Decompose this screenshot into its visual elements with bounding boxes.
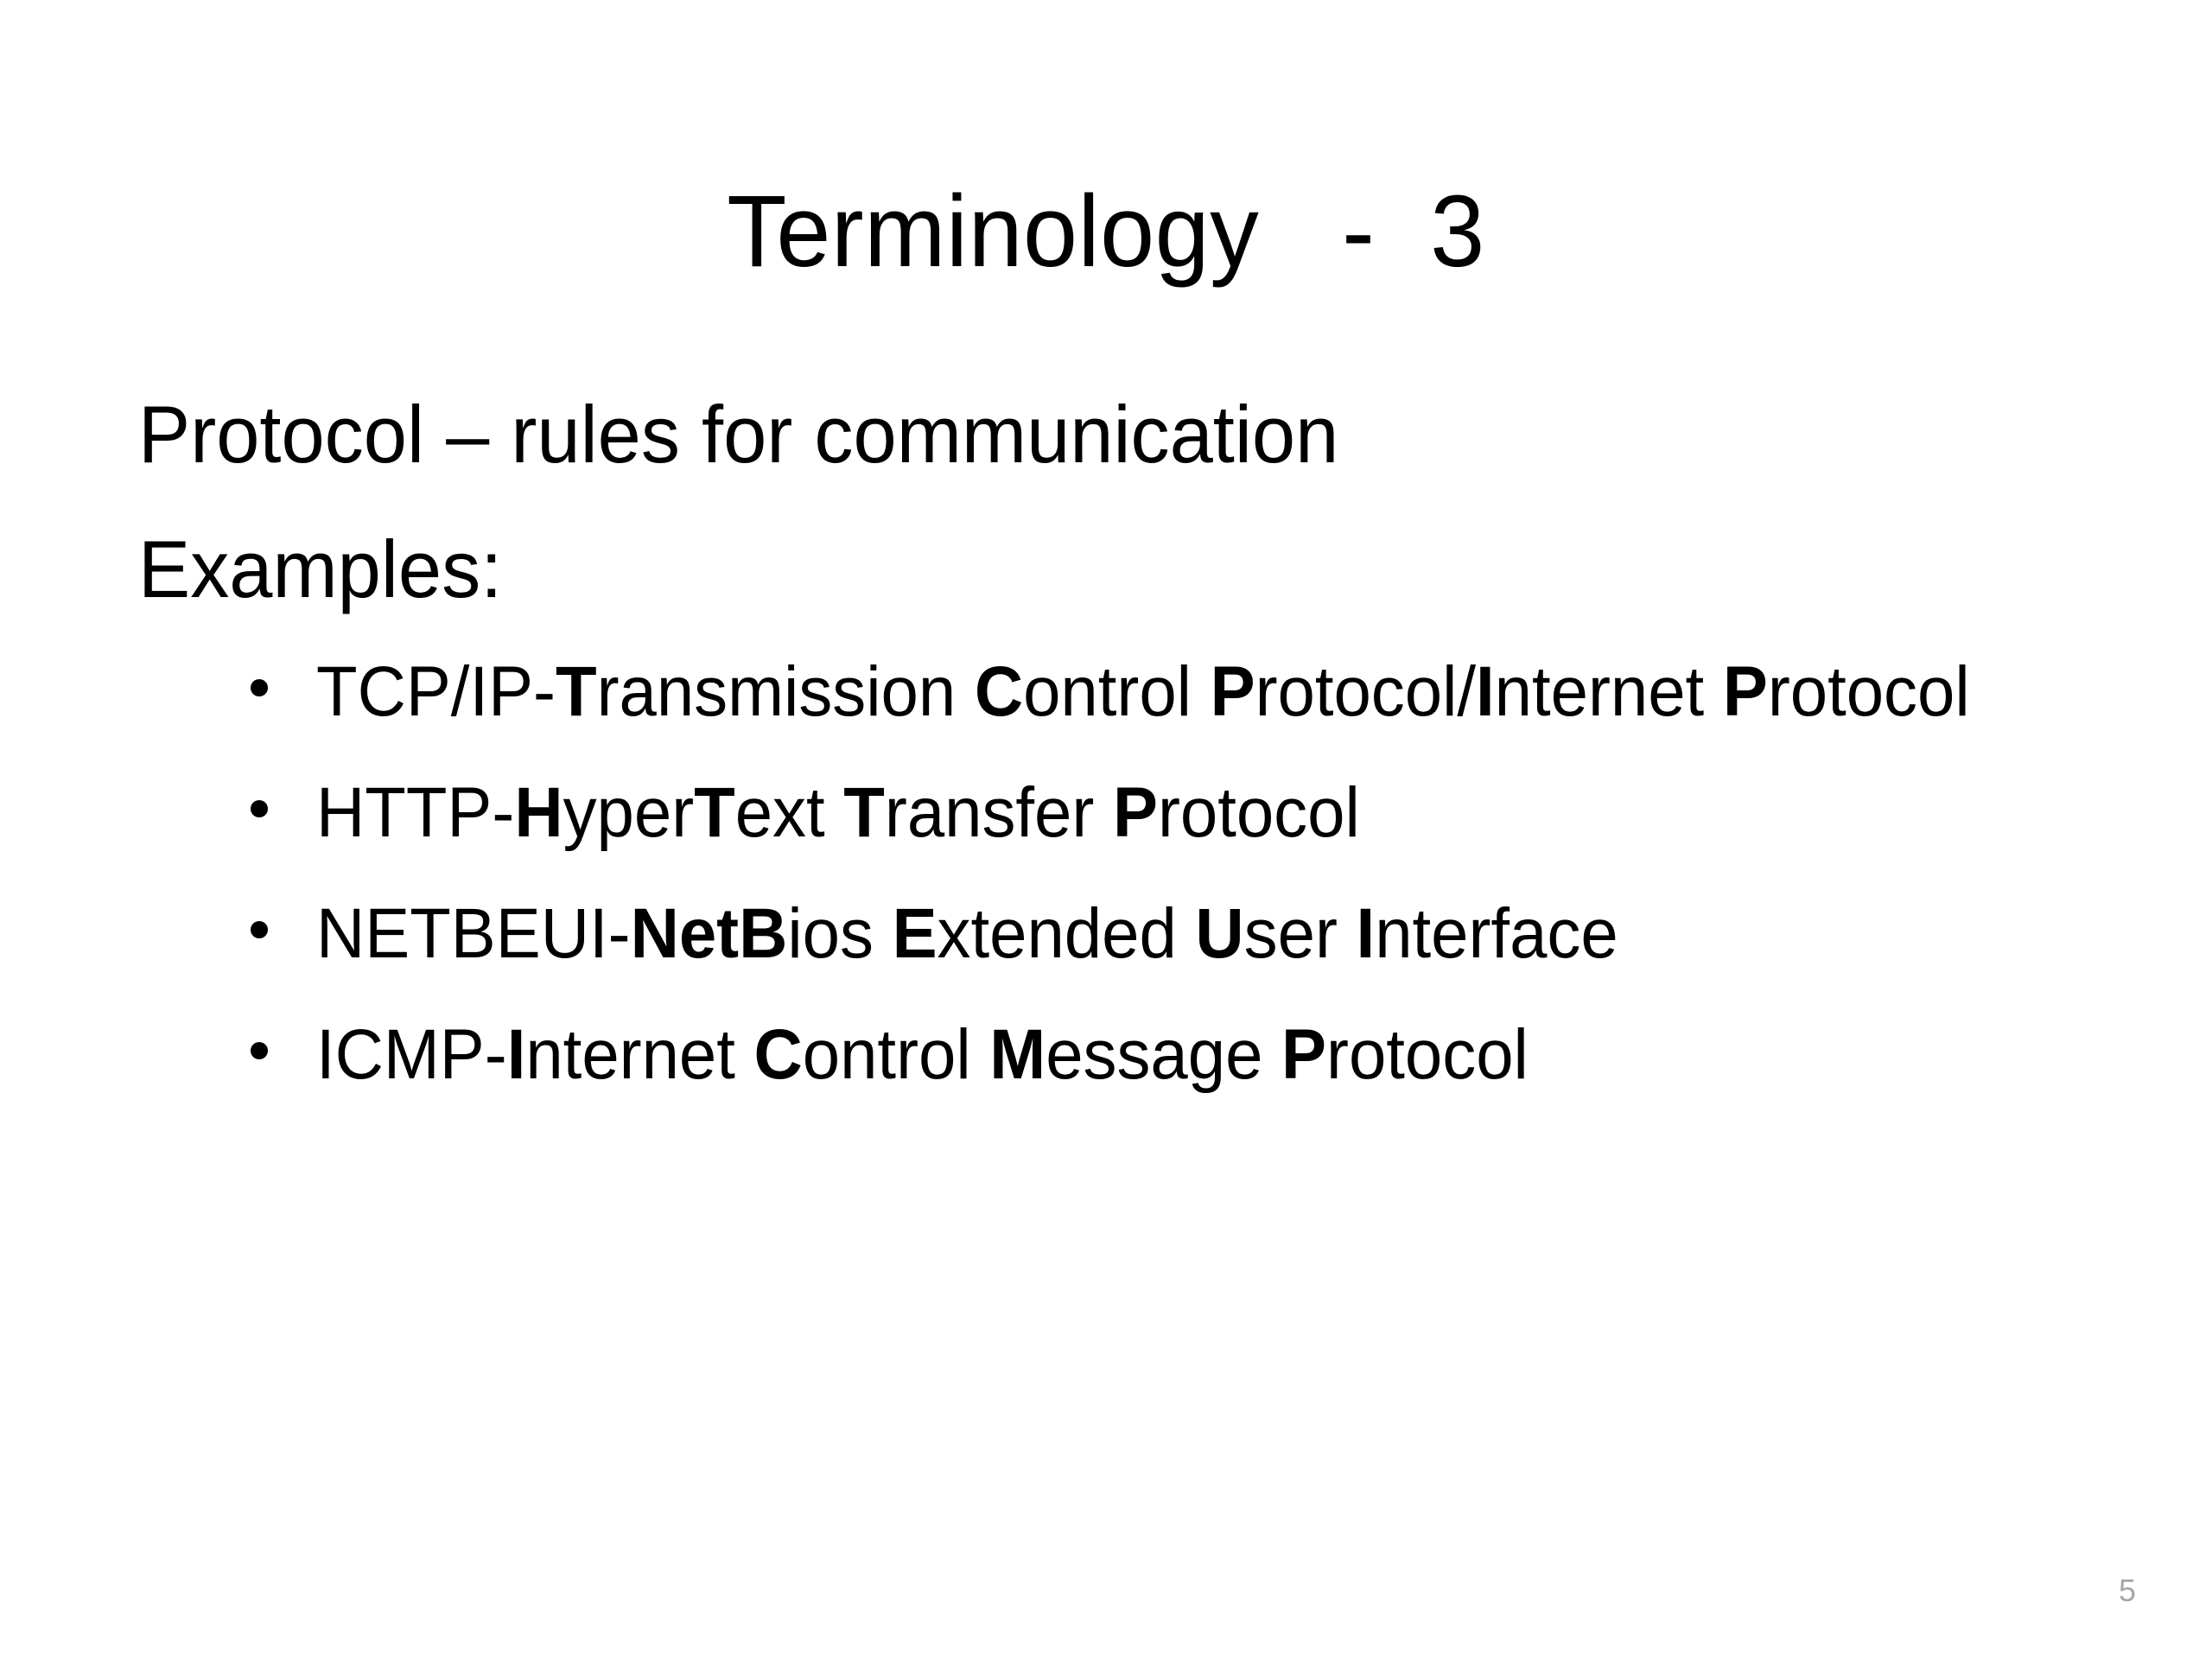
acronym-text: ransfer bbox=[885, 773, 1113, 852]
list-item-label: TCP/IP-Transmission Control Protocol/Int… bbox=[316, 641, 2035, 743]
acronym-initial: I bbox=[1476, 652, 1495, 731]
acronym-text: rotocol bbox=[1326, 1015, 1529, 1094]
slide-body: Protocol – rules for communication Examp… bbox=[138, 380, 2126, 1125]
acronym-text: ext bbox=[735, 773, 844, 852]
list-item-label: HTTP-HyperText Transfer Protocol bbox=[316, 762, 2035, 864]
acronym-text: ransmission bbox=[597, 652, 975, 731]
presentation-slide: Terminology - 3 Protocol – rules for com… bbox=[0, 0, 2212, 1659]
acronym-initial: M bbox=[989, 1015, 1046, 1094]
examples-heading: Examples: bbox=[138, 482, 2046, 610]
acronym-initial: T bbox=[843, 773, 885, 852]
acronym-text: xtended bbox=[938, 894, 1196, 973]
acronym-initial: T bbox=[694, 773, 735, 852]
acronym-initial: H bbox=[514, 773, 563, 852]
list-item[interactable]: NETBEUI-NetBios Extended User Interface bbox=[138, 883, 2126, 985]
acronym-initial: C bbox=[754, 1015, 803, 1094]
acronym-text: yper bbox=[563, 773, 695, 852]
acronym-text: TCP/IP- bbox=[316, 652, 556, 731]
bullet-dot-icon bbox=[251, 1042, 268, 1059]
acronym-initial: P bbox=[1113, 773, 1158, 852]
acronym-text: rotocol bbox=[1768, 652, 1970, 731]
acronym-initial: NetB bbox=[631, 894, 788, 973]
acronym-initial: I bbox=[507, 1015, 526, 1094]
acronym-initial: C bbox=[975, 652, 1023, 731]
acronym-initial: E bbox=[893, 894, 938, 973]
acronym-text: NETBEUI- bbox=[316, 894, 631, 973]
list-item[interactable]: HTTP-HyperText Transfer Protocol bbox=[138, 762, 2126, 864]
acronym-text: nternet bbox=[525, 1015, 753, 1094]
acronym-text: ICMP- bbox=[316, 1015, 507, 1094]
list-item[interactable]: ICMP-Internet Control Message Protocol bbox=[138, 1004, 2126, 1106]
bullet-dot-icon bbox=[251, 800, 268, 817]
slide-title: Terminology - 3 bbox=[44, 179, 2168, 286]
acronym-text: essage bbox=[1046, 1015, 1281, 1094]
acronym-initial: P bbox=[1281, 1015, 1326, 1094]
protocol-definition-line: Protocol – rules for communication bbox=[138, 380, 2046, 475]
acronym-initial: U bbox=[1195, 894, 1243, 973]
acronym-initial: T bbox=[556, 652, 597, 731]
acronym-initial: P bbox=[1211, 652, 1255, 731]
protocol-examples-list: TCP/IP-Transmission Control Protocol/Int… bbox=[138, 641, 2126, 1106]
acronym-text: ontrol bbox=[1023, 652, 1211, 731]
acronym-text: HTTP- bbox=[316, 773, 514, 852]
acronym-text: ser bbox=[1244, 894, 1357, 973]
acronym-text: ontrol bbox=[803, 1015, 990, 1094]
acronym-initial: P bbox=[1723, 652, 1768, 731]
list-item[interactable]: TCP/IP-Transmission Control Protocol/Int… bbox=[138, 641, 2126, 743]
acronym-text: nternet bbox=[1495, 652, 1723, 731]
bullet-dot-icon bbox=[251, 921, 268, 938]
list-item-label: NETBEUI-NetBios Extended User Interface bbox=[316, 883, 2035, 985]
bullet-dot-icon bbox=[251, 679, 268, 696]
acronym-text: rotocol bbox=[1158, 773, 1360, 852]
acronym-text: nterface bbox=[1375, 894, 1618, 973]
page-number: 5 bbox=[2119, 1573, 2136, 1609]
acronym-text: rotocol/ bbox=[1255, 652, 1476, 731]
acronym-text: ios bbox=[787, 894, 892, 973]
acronym-initial: I bbox=[1357, 894, 1376, 973]
list-item-label: ICMP-Internet Control Message Protocol bbox=[316, 1004, 2035, 1106]
